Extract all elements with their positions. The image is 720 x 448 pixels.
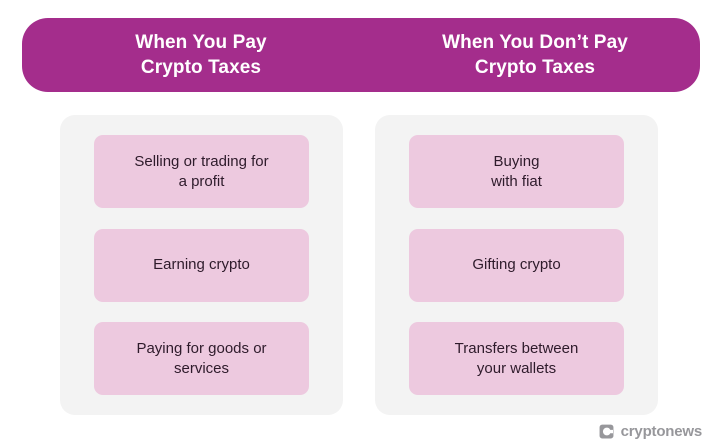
card-dont-pay-3: Transfers between your wallets — [409, 322, 624, 395]
header-title-pay: When You Pay Crypto Taxes — [22, 30, 368, 80]
card-pay-3: Paying for goods or services — [94, 322, 309, 395]
panel-pay: Selling or trading for a profit Earning … — [60, 115, 343, 415]
brand-logo: cryptonews — [599, 424, 702, 439]
header-title-dont-pay: When You Don’t Pay Crypto Taxes — [368, 30, 700, 80]
card-pay-2: Earning crypto — [94, 229, 309, 302]
header-bar: When You Pay Crypto Taxes When You Don’t… — [22, 18, 700, 92]
brand-logo-text: cryptonews — [621, 424, 702, 439]
cryptonews-c-mark-icon — [599, 424, 614, 439]
panel-dont-pay: Buying with fiat Gifting crypto Transfer… — [375, 115, 658, 415]
crypto-tax-infographic: When You Pay Crypto Taxes When You Don’t… — [0, 0, 720, 448]
card-dont-pay-1: Buying with fiat — [409, 135, 624, 208]
card-pay-1: Selling or trading for a profit — [94, 135, 309, 208]
card-dont-pay-2: Gifting crypto — [409, 229, 624, 302]
columns-container: Selling or trading for a profit Earning … — [60, 115, 658, 415]
